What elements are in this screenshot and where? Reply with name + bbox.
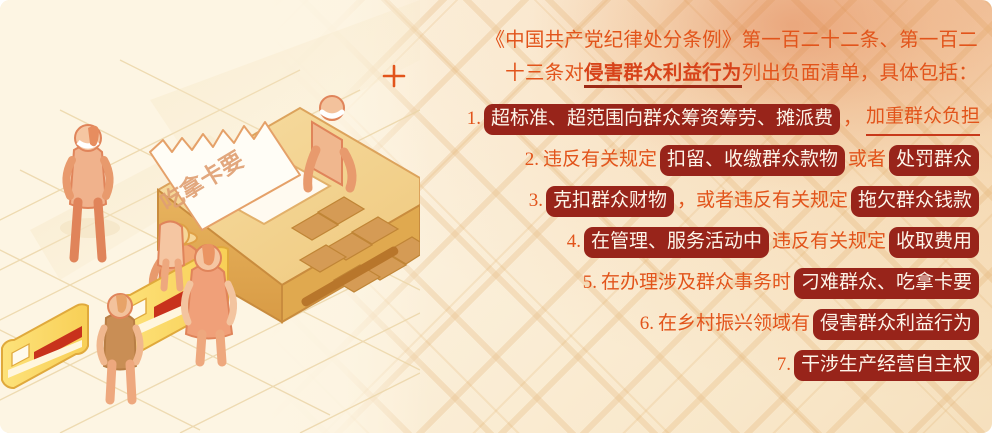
list-item-index: 5. bbox=[583, 268, 597, 298]
list-item-segment-plain: 违反有关规定 bbox=[541, 145, 659, 175]
list-item-index: 6. bbox=[640, 309, 654, 339]
poster-root: 吃拿卡要 bbox=[0, 0, 992, 433]
list-item: 3.克扣群众财物，或者违反有关规定拖欠群众钱款 bbox=[529, 182, 980, 220]
list-item-index: 4. bbox=[567, 227, 581, 257]
heading-emphasis: 侵害群众利益行为 bbox=[584, 63, 742, 88]
heading-suffix: 列出负面清单，具体包括： bbox=[742, 63, 978, 84]
list-item: 4.在管理、服务活动中违反有关规定收取费用 bbox=[567, 223, 980, 261]
list-item-index: 7. bbox=[777, 350, 791, 380]
list-item-segment-highlight: 克扣群众财物 bbox=[546, 186, 674, 217]
list-item-segment-highlight: 刁难群众、吃拿卡要 bbox=[794, 268, 979, 299]
list-item-segment-plain: ，或者违反有关规定 bbox=[675, 186, 850, 216]
list-item-segment-underline: 加重群众负担 bbox=[866, 102, 980, 136]
list-item-index: 3. bbox=[529, 186, 543, 216]
heading-prefix: 十三条对 bbox=[505, 63, 584, 84]
violation-list: 1.超标准、超范围向群众筹资筹劳、摊派费，加重群众负担2.违反有关规定扣留、收缴… bbox=[420, 100, 982, 384]
list-item-segment-highlight: 侵害群众利益行为 bbox=[813, 309, 979, 340]
pos-terminal-scene: 吃拿卡要 bbox=[0, 0, 420, 433]
list-item-segment-highlight: 超标准、超范围向群众筹资筹劳、摊派费 bbox=[484, 104, 840, 135]
list-item: 7.干涉生产经营自主权 bbox=[777, 346, 980, 384]
list-item-segment-highlight: 在管理、服务活动中 bbox=[584, 227, 769, 258]
list-item: 1.超标准、超范围向群众筹资筹劳、摊派费，加重群众负担 bbox=[467, 100, 980, 138]
list-item-segment-plain: 在乡村振兴领域有 bbox=[656, 309, 812, 339]
list-item: 5.在办理涉及群众事务时刁难群众、吃拿卡要 bbox=[583, 264, 980, 302]
list-item-segment-highlight: 处罚群众 bbox=[889, 145, 979, 176]
page-heading: 《中国共产党纪律处分条例》第一百二十二条、第一百二 十三条对侵害群众利益行为列出… bbox=[420, 24, 982, 90]
list-item-segment-plain: 或者 bbox=[846, 145, 888, 175]
list-item-index: 2. bbox=[525, 145, 539, 175]
list-item-segment-plain: ， bbox=[841, 104, 864, 134]
list-item-segment-plain: 在办理涉及群众事务时 bbox=[599, 268, 793, 298]
list-item-segment-highlight: 扣留、收缴群众款物 bbox=[660, 145, 845, 176]
heading-line-2: 十三条对侵害群众利益行为列出负面清单，具体包括： bbox=[420, 57, 978, 90]
list-item: 6.在乡村振兴领域有侵害群众利益行为 bbox=[640, 305, 980, 343]
list-item-segment-highlight: 拖欠群众钱款 bbox=[851, 186, 979, 217]
list-item-segment-plain: 违反有关规定 bbox=[770, 227, 888, 257]
list-item: 2.违反有关规定扣留、收缴群众款物或者处罚群众 bbox=[525, 141, 980, 179]
list-item-segment-highlight: 收取费用 bbox=[889, 227, 979, 258]
text-column: 《中国共产党纪律处分条例》第一百二十二条、第一百二 十三条对侵害群众利益行为列出… bbox=[410, 0, 992, 433]
heading-line-1: 《中国共产党纪律处分条例》第一百二十二条、第一百二 bbox=[420, 24, 978, 57]
list-item-index: 1. bbox=[467, 104, 481, 134]
list-item-segment-highlight: 干涉生产经营自主权 bbox=[794, 350, 979, 381]
